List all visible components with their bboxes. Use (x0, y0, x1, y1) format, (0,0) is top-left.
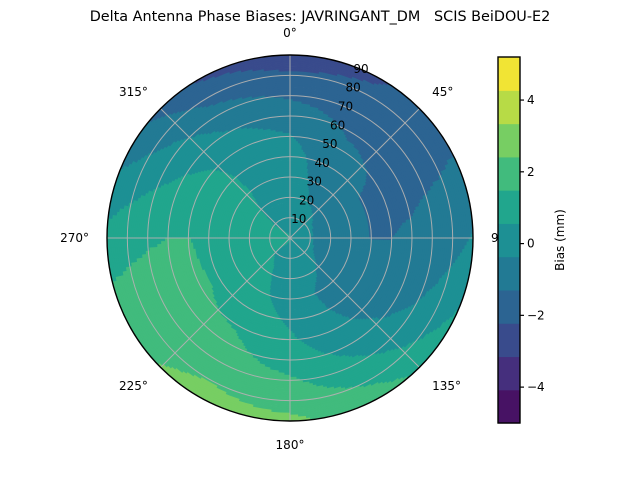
colorbar-tick-label--4: −4 (527, 380, 545, 394)
colorbar-tick-label-0: 0 (527, 237, 535, 251)
angular-tick-315: 315° (119, 85, 148, 99)
colorbar-ticks: 420−2−4 (520, 93, 545, 394)
radial-tick-90: 90 (353, 62, 368, 76)
radial-tick-10: 10 (291, 212, 306, 226)
colorbar[interactable] (498, 57, 520, 424)
radial-tick-40: 40 (314, 156, 329, 170)
colorbar-band-6 (498, 190, 520, 224)
radial-tick-70: 70 (338, 100, 353, 114)
polar-plot-canvas: 0°45°90135°180°225°270°315°1020304050607… (0, 0, 640, 480)
colorbar-axis-label: Bias (mm) (553, 209, 567, 271)
radial-tick-60: 60 (330, 118, 345, 132)
colorbar-band-3 (498, 290, 520, 324)
colorbar-band-8 (498, 124, 520, 158)
colorbar-tick-label-4: 4 (527, 93, 535, 107)
colorbar-tick-label-2: 2 (527, 165, 535, 179)
colorbar-band-5 (498, 223, 520, 257)
colorbar-band-9 (498, 90, 520, 124)
colorbar-band-7 (498, 157, 520, 191)
angular-tick-135: 135° (432, 379, 461, 393)
radial-tick-50: 50 (322, 137, 337, 151)
colorbar-band-1 (498, 356, 520, 390)
angular-tick-45: 45° (432, 85, 453, 99)
angular-tick-225: 225° (119, 379, 148, 393)
colorbar-band-0 (498, 390, 520, 424)
radial-tick-80: 80 (346, 81, 361, 95)
colorbar-band-2 (498, 323, 520, 357)
radial-tick-20: 20 (299, 193, 314, 207)
angular-tick-270: 270° (60, 231, 89, 245)
polar-grid (107, 55, 473, 421)
radial-tick-30: 30 (307, 175, 322, 189)
angular-tick-180: 180° (276, 438, 305, 452)
colorbar-band-10 (498, 57, 520, 91)
angular-tick-0: 0° (283, 26, 297, 40)
colorbar-tick-label--2: −2 (527, 308, 545, 322)
matplotlib-figure: Delta Antenna Phase Biases: JAVRINGANT_D… (0, 0, 640, 480)
colorbar-band-4 (498, 257, 520, 291)
